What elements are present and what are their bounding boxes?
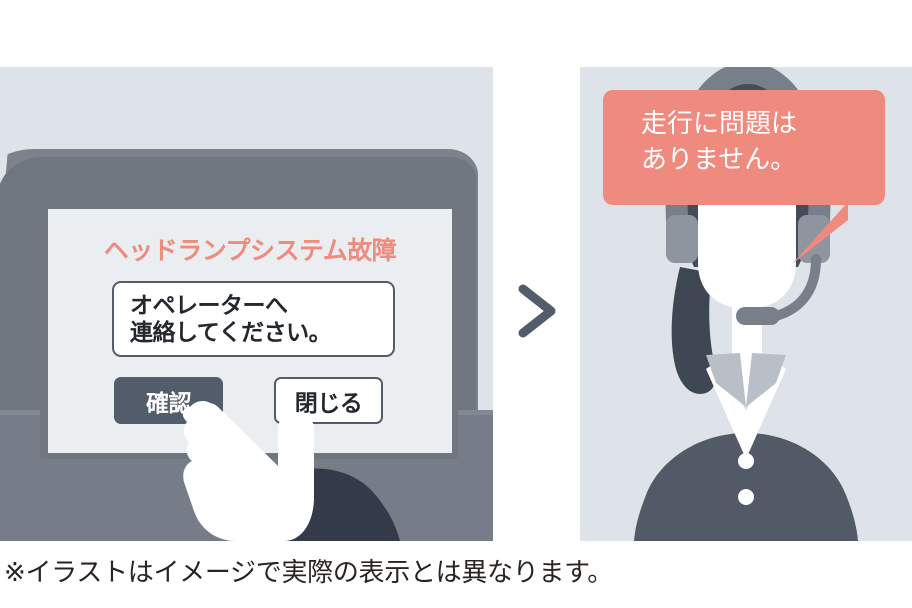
- headset-mic: [736, 307, 780, 325]
- vehicle-screen: ヘッドランプシステム故障 オペレーターへ 連絡してください。 確認 閉じる: [48, 209, 452, 453]
- speech-bubble: 走行に問題は ありません。: [603, 90, 885, 205]
- speech-bubble-line-1: 走行に問題は: [641, 106, 885, 142]
- operator-button-1: [738, 453, 754, 469]
- screen-message-line-2: 連絡してください。: [114, 319, 393, 346]
- right-panel: 走行に問題は ありません。: [580, 67, 912, 541]
- screen-message-box: オペレーターへ 連絡してください。: [112, 281, 395, 357]
- confirm-button[interactable]: 確認: [114, 377, 223, 424]
- headset-earcup-left: [666, 215, 698, 263]
- screen-message-line-1: オペレーターへ: [114, 292, 393, 319]
- speech-bubble-tail: [790, 202, 850, 267]
- close-button[interactable]: 閉じる: [274, 377, 383, 424]
- operator-button-2: [738, 489, 754, 505]
- figure-caption: ※イラストはイメージで実際の表示とは異なります。: [4, 552, 613, 589]
- illustration-stage: ヘッドランプシステム故障 オペレーターへ 連絡してください。 確認 閉じる: [0, 0, 912, 608]
- left-panel: ヘッドランプシステム故障 オペレーターへ 連絡してください。 確認 閉じる: [0, 67, 493, 541]
- chevron-right-icon: [513, 283, 563, 339]
- screen-alert-title: ヘッドランプシステム故障: [48, 231, 452, 267]
- speech-bubble-line-2: ありません。: [641, 142, 885, 178]
